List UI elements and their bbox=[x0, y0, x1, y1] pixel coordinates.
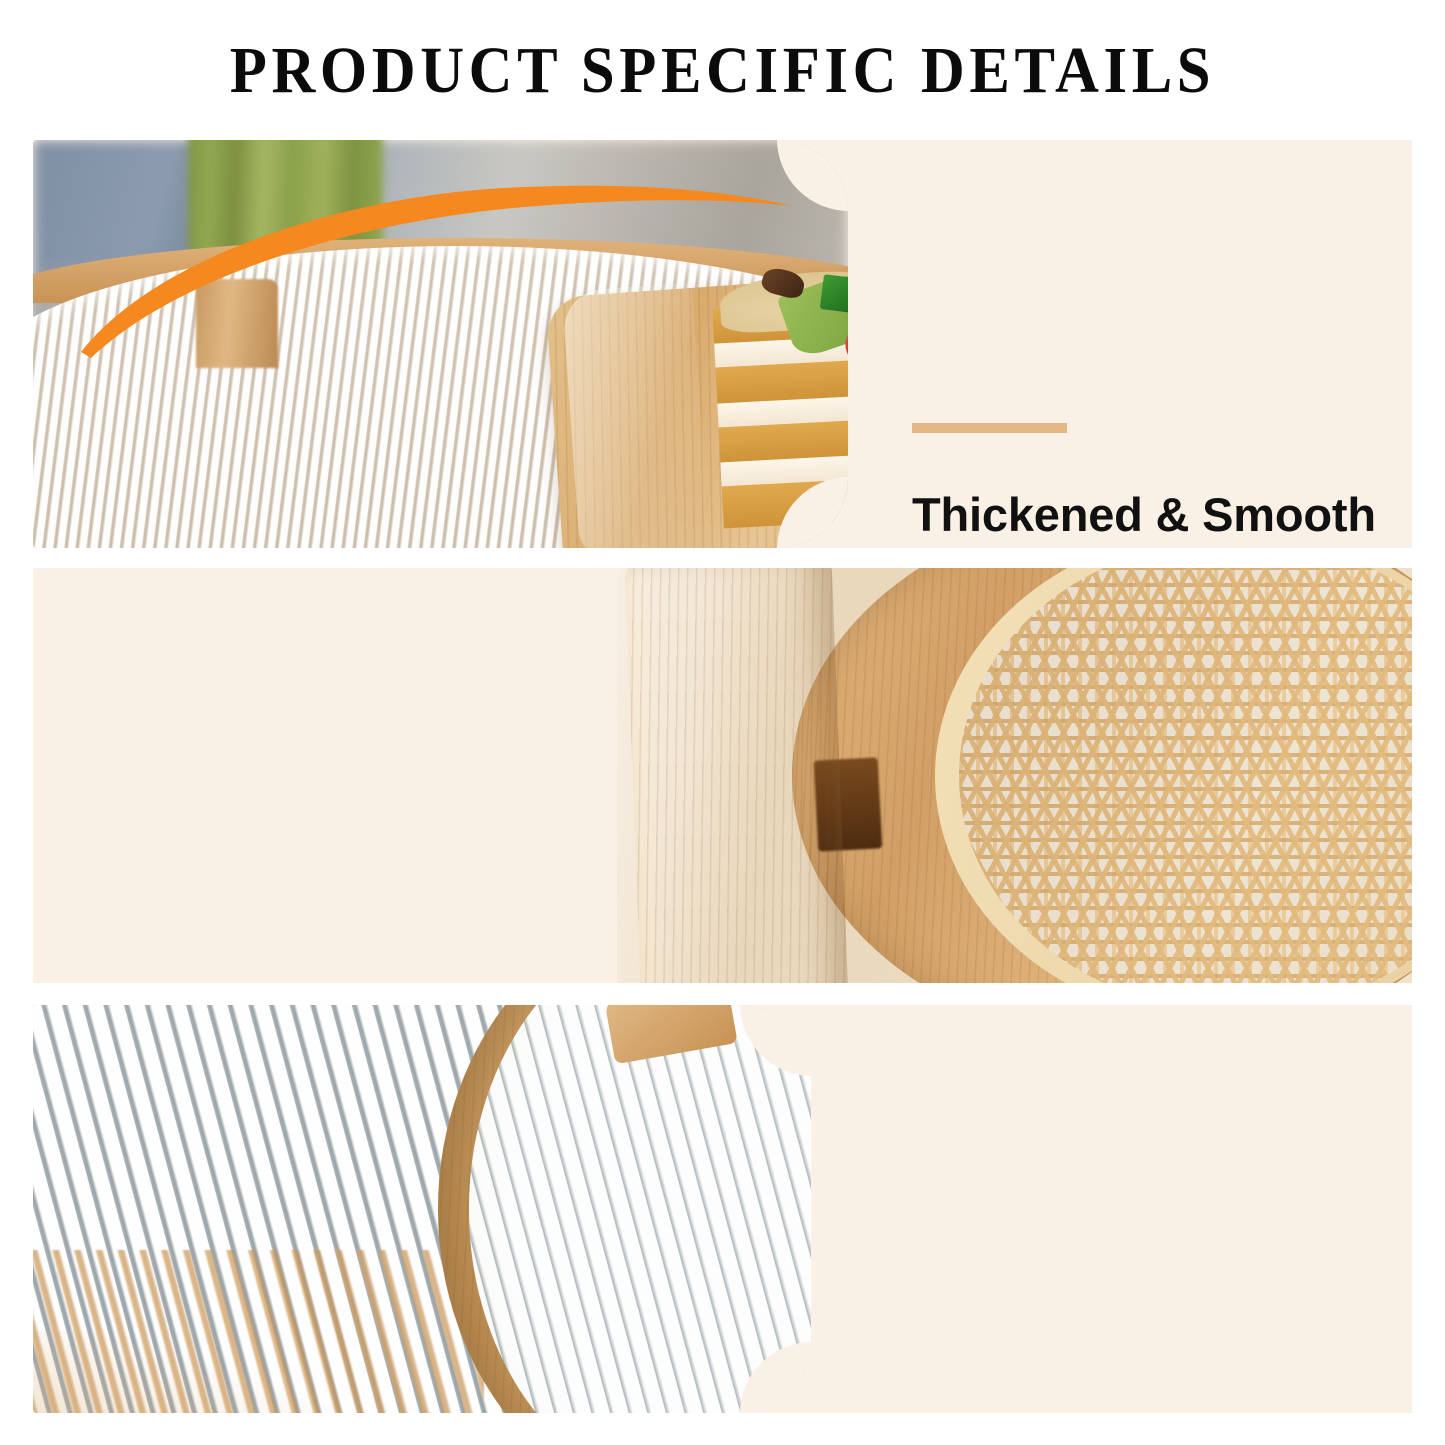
panel-1-text-block: Thickened & Smooth Table Corners bbox=[912, 423, 1376, 548]
product-detail-infographic: PRODUCT SPECIFIC DETAILS bbox=[0, 0, 1445, 1445]
panel-3-photo bbox=[33, 1005, 811, 1413]
feature-panel-3: Wear-resistant Tempered Glass Top bbox=[33, 1005, 1412, 1413]
panel-1-heading: Thickened & Smooth Table Corners bbox=[912, 486, 1376, 548]
wood-grain-texture bbox=[624, 568, 848, 983]
feature-panel-1: Thickened & Smooth Table Corners bbox=[33, 140, 1412, 548]
table-leg bbox=[624, 568, 848, 983]
accent-bar bbox=[912, 423, 1067, 433]
feature-panel-2: Sturdy & Beautiful Rattan Mesh Design bbox=[33, 568, 1412, 983]
warm-glow bbox=[33, 1331, 344, 1413]
page-title: PRODUCT SPECIFIC DETAILS bbox=[58, 36, 1387, 106]
rattan-shading bbox=[959, 568, 1412, 983]
panel-2-photo bbox=[617, 568, 1412, 983]
panel-1-photo bbox=[33, 140, 848, 548]
glass-edge-flutes bbox=[469, 1005, 811, 1413]
highlight-arc-icon bbox=[33, 140, 848, 548]
